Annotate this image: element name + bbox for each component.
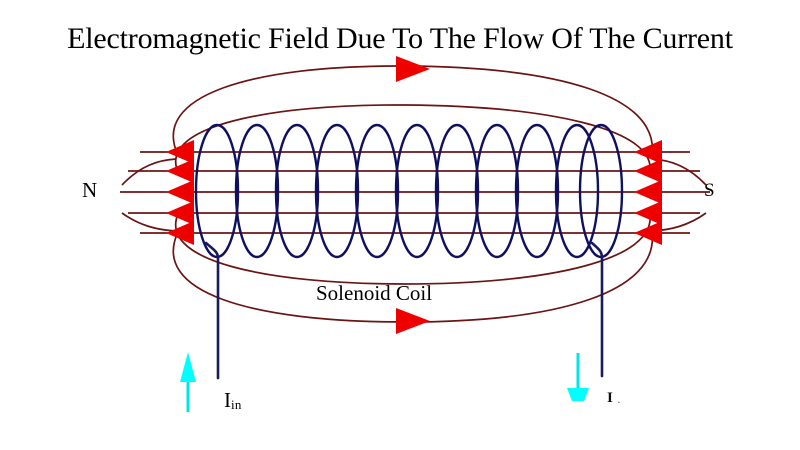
north-pole-label: N [82,178,97,203]
current-in-subscript: in [231,397,242,412]
field-arrow-left [166,180,194,204]
current-in-symbol: I [224,388,231,412]
coil-turn [196,125,238,257]
field-loop-third-upper [122,159,176,185]
arrowheads-right-cluster [634,140,662,245]
arrowheads-left-cluster [166,140,194,245]
coil-turn [316,125,358,257]
field-loop-third-lower [122,213,176,231]
coil-turn [580,125,622,257]
field-arrow-right [634,180,662,204]
solenoid-coil [196,125,622,257]
page-title: Electromagnetic Field Due To The Flow Of… [0,22,800,56]
coil-turn [396,125,438,257]
south-pole-label: S [704,180,715,202]
coil-turn [516,125,558,257]
field-arrow-left [166,201,194,225]
current-out-subscript: . [618,396,620,405]
field-arrow-right [634,159,662,183]
current-out-arrowhead [567,388,589,401]
coil-turn [436,125,478,257]
current-in-label: Iin [224,388,242,413]
solenoid-field-diagram [0,0,800,450]
field-arrow-bottom [396,308,430,334]
field-arrow-top [396,56,430,82]
coil-turn [236,125,278,257]
current-out-label: I. [607,390,620,407]
field-arrow-left [166,159,194,183]
coil-turn [556,125,598,257]
field-loop-outer [173,66,652,156]
coil-turn [476,125,518,257]
coil-turn [356,125,398,257]
current-in-arrowhead [180,352,196,382]
current-out-symbol: I [607,390,613,406]
solenoid-coil-label: Solenoid Coil [316,281,432,306]
field-arrow-left [166,221,194,245]
diagram-canvas: Electromagnetic Field Due To The Flow Of… [0,0,800,450]
lead-wire-left [206,243,218,378]
field-loop-second-upper [176,105,651,172]
field-arrow-right [634,201,662,225]
coil-turn [276,125,318,257]
field-arrow-left [166,140,194,164]
